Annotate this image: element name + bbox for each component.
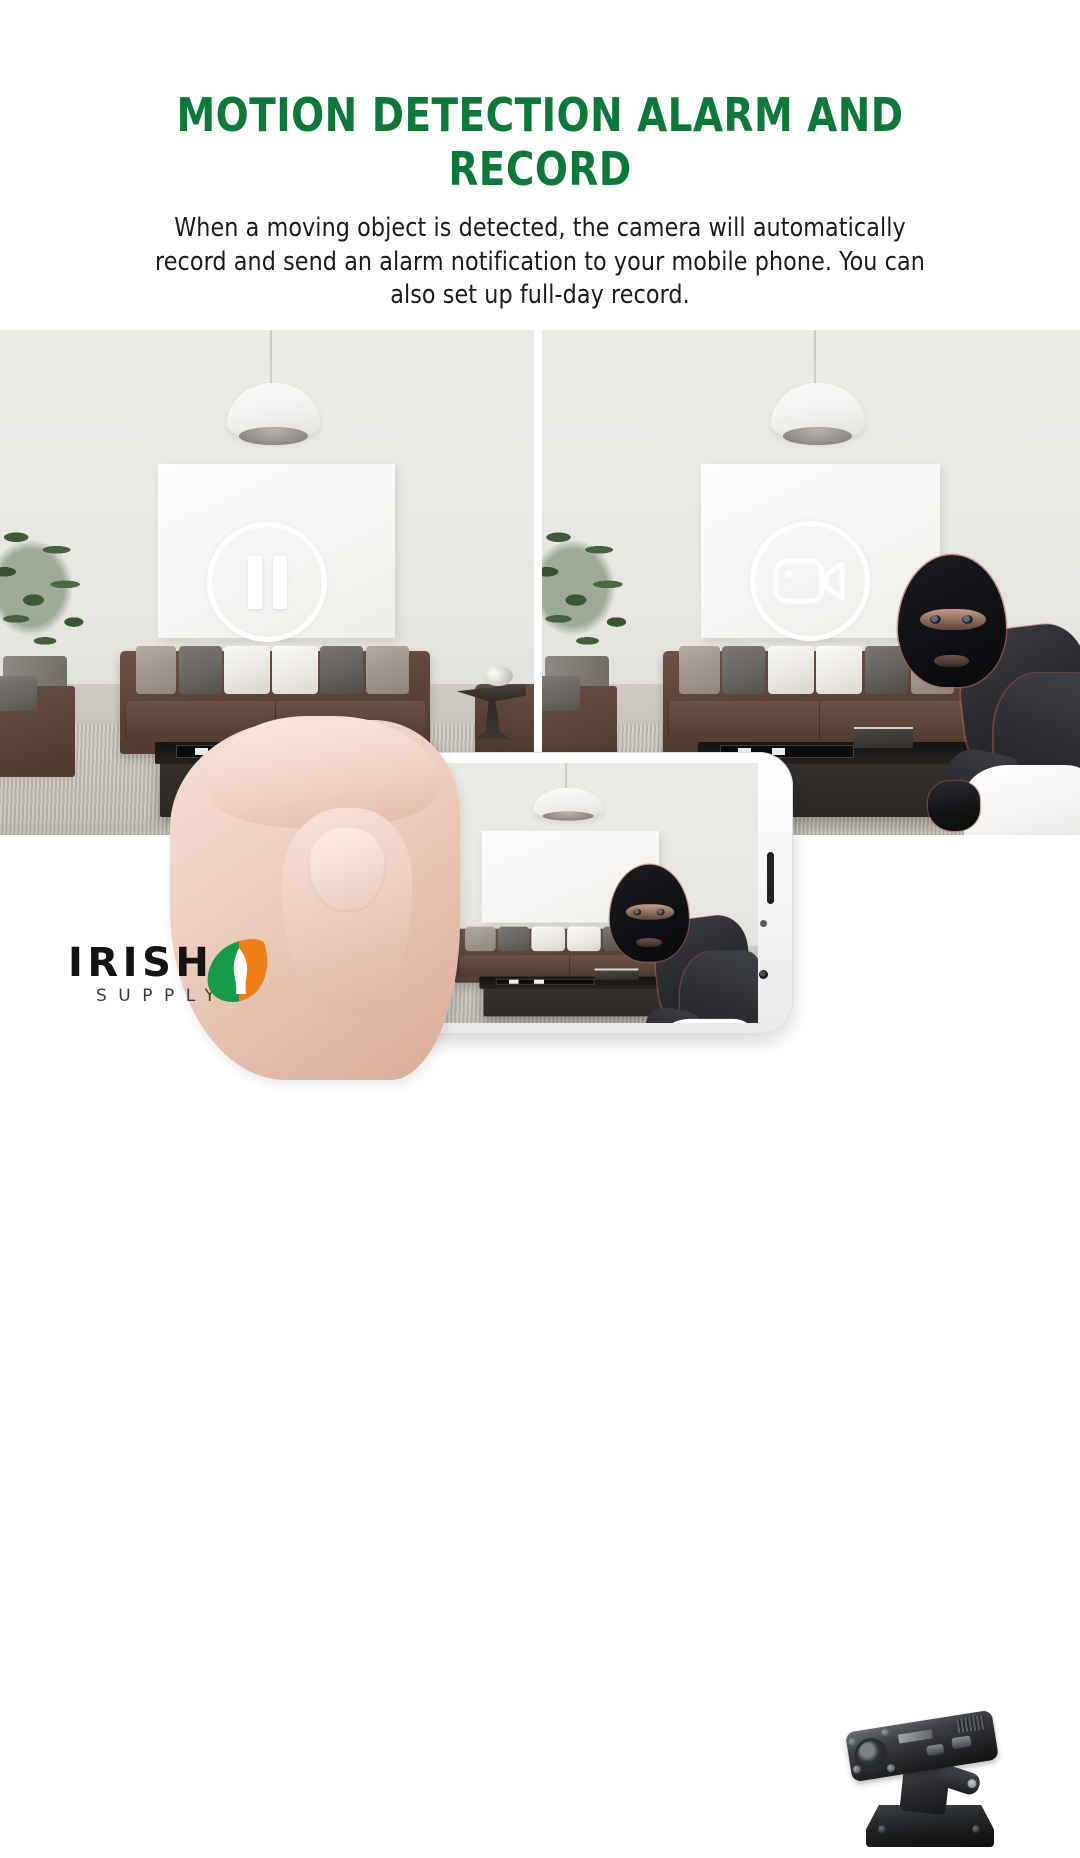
ir-led xyxy=(887,1764,896,1773)
pendant-lamp-interior xyxy=(783,427,852,445)
intruder-balaclava xyxy=(610,865,689,962)
sofa-cushion xyxy=(320,646,363,694)
intruder-figure xyxy=(890,545,1080,835)
phone-proximity-sensor xyxy=(760,920,767,927)
pause-bars xyxy=(248,556,287,609)
side-table-object xyxy=(483,666,512,686)
camera-vent-grill xyxy=(956,1715,986,1733)
page-title: MOTION DETECTION ALARM AND RECORD xyxy=(117,88,963,196)
left-sofa-cushion xyxy=(542,676,580,711)
camera-button[interactable] xyxy=(926,1744,944,1757)
irish-flag-leaf-icon xyxy=(206,936,272,1006)
intruder-balaclava xyxy=(898,555,1006,687)
video-record-icon[interactable] xyxy=(750,521,870,641)
brand-logo[interactable]: IRISH SUPPLY xyxy=(68,938,283,1016)
camera-brand-label xyxy=(898,1729,933,1743)
sofa-cushion xyxy=(816,646,862,694)
thumb xyxy=(282,808,412,1014)
pendant-lamp-cord xyxy=(270,330,272,386)
balaclava-eye-opening xyxy=(626,904,674,919)
coffee-table-decor xyxy=(509,980,569,984)
sofa-cushion xyxy=(679,646,719,694)
intruder-glove xyxy=(928,781,980,831)
sofa-cushion xyxy=(179,646,222,694)
pendant-lamp-interior xyxy=(239,427,307,445)
pendant-lamp-cord xyxy=(814,330,816,386)
sofa-cushion xyxy=(466,926,496,951)
product-camera xyxy=(838,1713,1038,1858)
ir-led xyxy=(852,1765,861,1774)
sofa-cushion xyxy=(366,646,409,694)
sofa-cushion xyxy=(531,926,565,951)
phone-front-camera xyxy=(759,970,768,979)
header-section: MOTION DETECTION ALARM AND RECORD When a… xyxy=(0,0,1080,330)
mount-screw-hole xyxy=(878,1825,886,1833)
sofa-cushion xyxy=(224,646,269,694)
sofa-cushion xyxy=(722,646,765,694)
potted-plant-foliage xyxy=(0,509,117,666)
intruder-figure xyxy=(604,857,751,1023)
thumbnail xyxy=(308,826,386,912)
left-sofa-cushion xyxy=(0,676,37,711)
hand-holding-phone xyxy=(170,720,810,1080)
pause-bar-right xyxy=(273,556,287,609)
logo-primary-text: IRISH xyxy=(68,940,213,986)
camera-button[interactable] xyxy=(951,1735,971,1749)
balaclava-mouth-opening xyxy=(636,938,662,947)
intruder-eye-left xyxy=(930,615,941,624)
phone-earpiece-speaker xyxy=(767,852,774,904)
sofa-cushion xyxy=(768,646,814,694)
ir-led xyxy=(848,1737,857,1746)
intruder-loot-bag xyxy=(964,765,1080,835)
sofa-cushion xyxy=(497,926,529,951)
balaclava-mouth-opening xyxy=(934,655,969,667)
balaclava-eye-opening xyxy=(920,609,986,630)
pendant-lamp-cord xyxy=(565,763,567,790)
page-description: When a moving object is detected, the ca… xyxy=(152,212,928,313)
intruder-eye-right xyxy=(962,615,973,624)
intruder-eye-right xyxy=(657,909,665,916)
sofa-cushion xyxy=(567,926,601,951)
sofa-cushion xyxy=(272,646,317,694)
camcorder-glyph xyxy=(773,554,847,608)
sofa-cushion xyxy=(136,646,176,694)
intruder-eye-left xyxy=(633,909,641,916)
pause-icon[interactable] xyxy=(207,522,327,642)
pause-bar-left xyxy=(248,556,262,609)
ir-led xyxy=(881,1728,890,1737)
mount-screw-hole xyxy=(972,1825,980,1833)
potted-plant-foliage xyxy=(542,509,660,666)
